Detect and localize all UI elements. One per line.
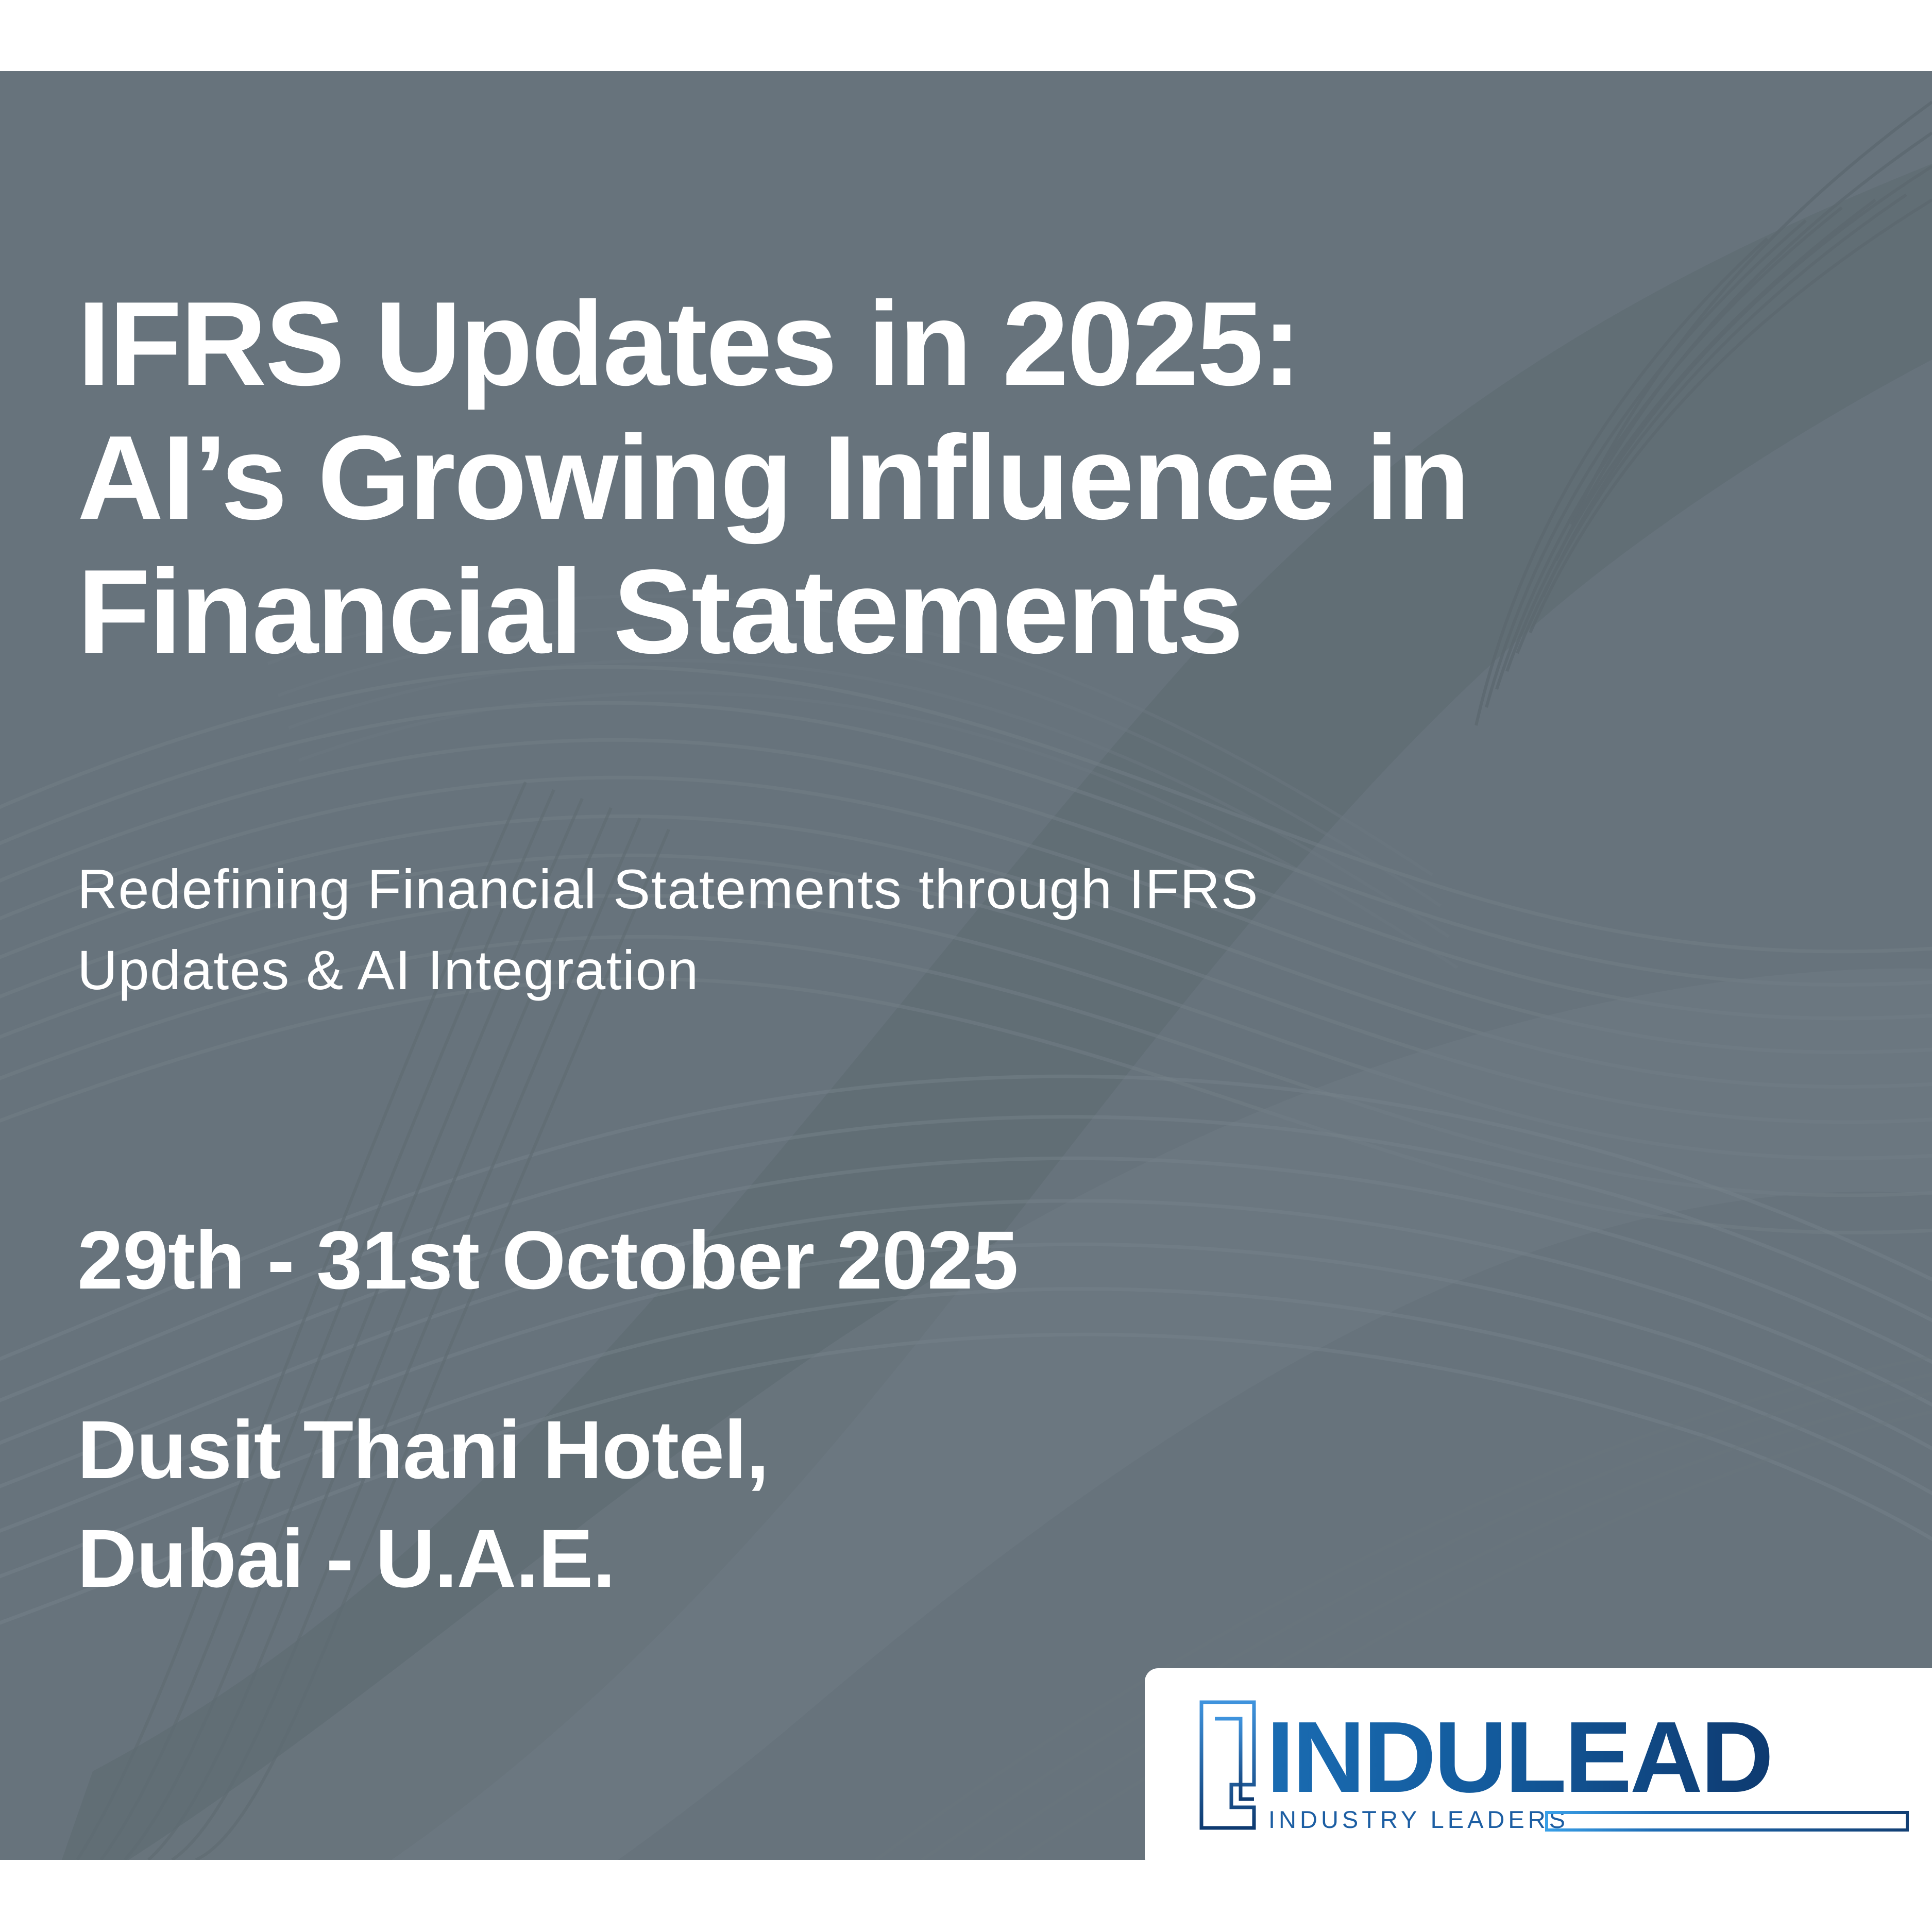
event-subtitle: Redefining Financial Statements through … [77, 849, 1597, 1010]
indulead-wordmark: INDULEAD [1266, 1701, 1772, 1814]
indulead-tagline: INDUSTRY LEADERS [1268, 1806, 1569, 1833]
event-venue: Dusit Thani Hotel, Dubai - U.A.E. [77, 1395, 769, 1613]
l-bracket-icon [1201, 1702, 1254, 1828]
poster-canvas: IFRS Updates in 2025: AI’s Growing Influ… [0, 71, 1932, 1860]
tagline-rule-bar [1547, 1812, 1907, 1830]
indulead-logo-svg: INDULEAD INDUSTRY LEADERS [1196, 1698, 1912, 1838]
event-title: IFRS Updates in 2025: AI’s Growing Influ… [77, 277, 1597, 679]
event-poster: IFRS Updates in 2025: AI’s Growing Influ… [0, 0, 1932, 1932]
sponsor-logo-card: INDULEAD INDUSTRY LEADERS [1145, 1668, 1932, 1860]
poster-content: IFRS Updates in 2025: AI’s Growing Influ… [77, 71, 1623, 1860]
event-dates: 29th - 31st October 2025 [77, 1215, 1018, 1306]
indulead-logo: INDULEAD INDUSTRY LEADERS [1196, 1698, 1912, 1838]
